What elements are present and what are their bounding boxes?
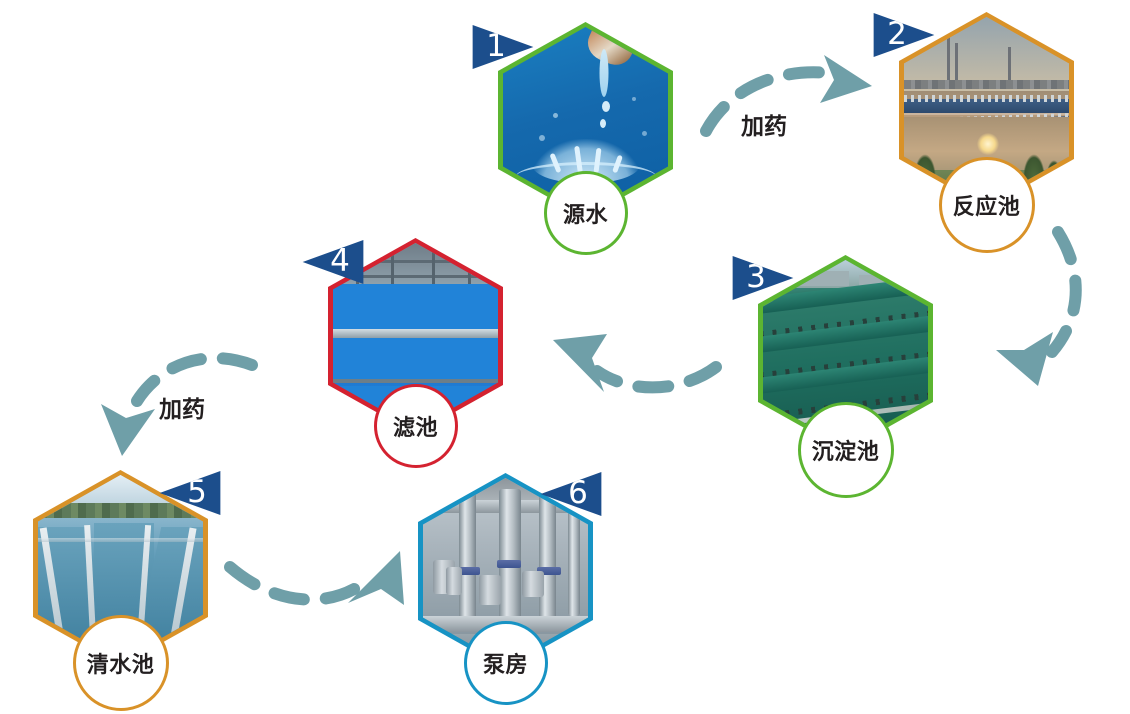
step-node-6[interactable]: 6 泵房	[418, 473, 593, 669]
step-node-3[interactable]: 3 沉淀池	[758, 255, 933, 451]
step-node-1[interactable]: 1 源水	[498, 22, 673, 218]
step-node-5[interactable]: 5 清水池	[33, 470, 208, 666]
connector-5-to-6	[230, 551, 404, 605]
connector-2-to-3	[996, 232, 1076, 386]
connector-label-dosing-2: 加药	[159, 390, 205, 424]
connector-3-to-4	[553, 334, 716, 392]
step-node-2[interactable]: 2 反应池	[899, 12, 1074, 208]
connector-label-dosing-1: 加药	[741, 107, 787, 141]
step-caption-3: 沉淀池	[798, 402, 894, 498]
step-caption-6: 泵房	[464, 621, 548, 705]
connector-1-to-2	[706, 55, 872, 131]
step-caption-4: 滤池	[374, 384, 458, 468]
step-caption-1: 源水	[544, 171, 628, 255]
step-caption-2: 反应池	[939, 157, 1035, 253]
step-caption-5: 清水池	[73, 615, 169, 711]
step-node-4[interactable]: 4 滤池	[328, 238, 503, 434]
process-flow-diagram: .dash{fill:none;stroke:#6f9fa8;stroke-wi…	[0, 0, 1130, 714]
